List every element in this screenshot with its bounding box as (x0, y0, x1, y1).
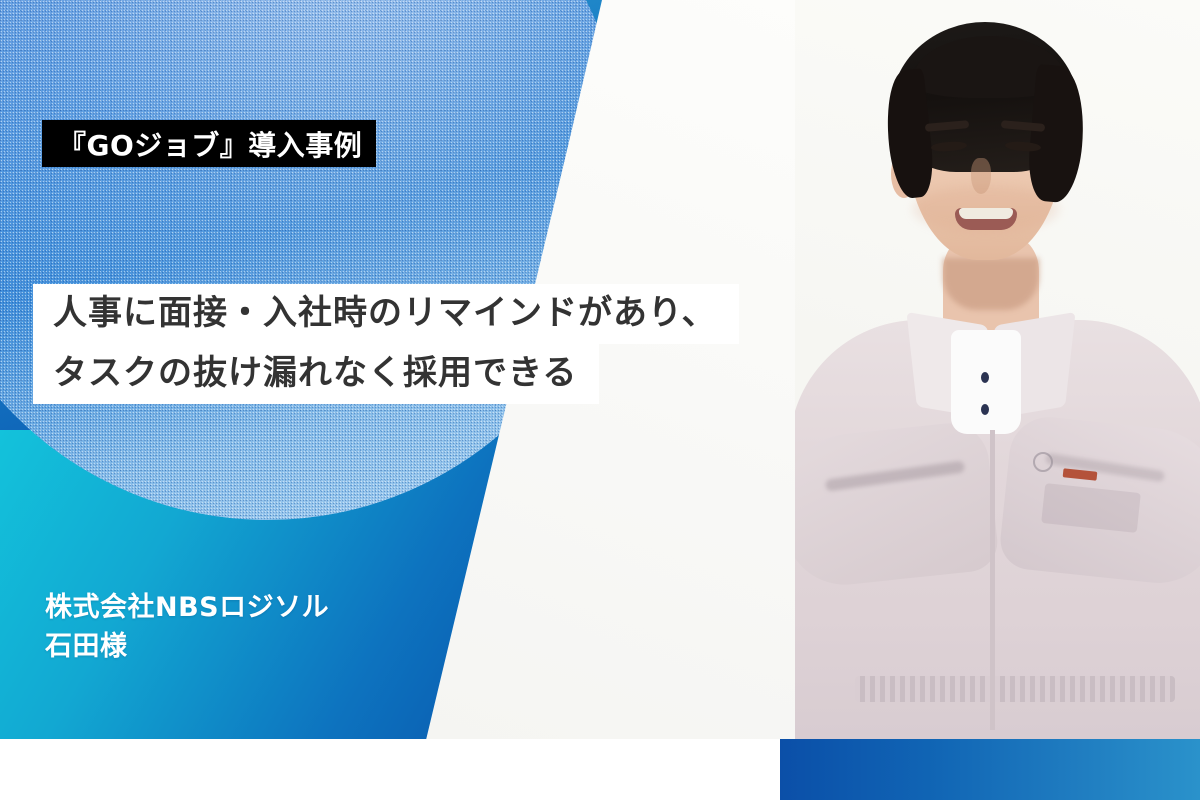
case-study-badge: 『GOジョブ』導入事例 (42, 120, 376, 167)
person-teeth (959, 208, 1013, 219)
person-nose (971, 158, 991, 194)
person-arm-left (795, 419, 1000, 590)
company-credit: 株式会社NBSロジソル 石田様 (45, 588, 329, 666)
shirt-button-top (981, 372, 989, 383)
jacket-hem (855, 676, 1175, 702)
portrait-photo (795, 0, 1200, 740)
bottom-blue-bar (780, 739, 1200, 800)
company-person: 石田様 (45, 627, 329, 666)
neck-shadow (943, 258, 1039, 310)
headline-line-1: 人事に面接・入社時のリマインドがあり、 (33, 284, 739, 344)
shirt-button-bottom (981, 404, 989, 415)
company-name: 株式会社NBSロジソル (45, 588, 329, 627)
case-study-badge-label: 『GOジョブ』導入事例 (58, 124, 362, 164)
jacket-emblem (1033, 452, 1053, 472)
slide-canvas: 『GOジョブ』導入事例 人事に面接・入社時のリマインドがあり、 タスクの抜け漏れ… (0, 0, 1200, 800)
headline-line-2: タスクの抜け漏れなく採用できる (33, 344, 599, 404)
jacket-zipper (990, 430, 995, 730)
person-mouth (955, 208, 1017, 230)
headline: 人事に面接・入社時のリマインドがあり、 タスクの抜け漏れなく採用できる (33, 284, 739, 404)
